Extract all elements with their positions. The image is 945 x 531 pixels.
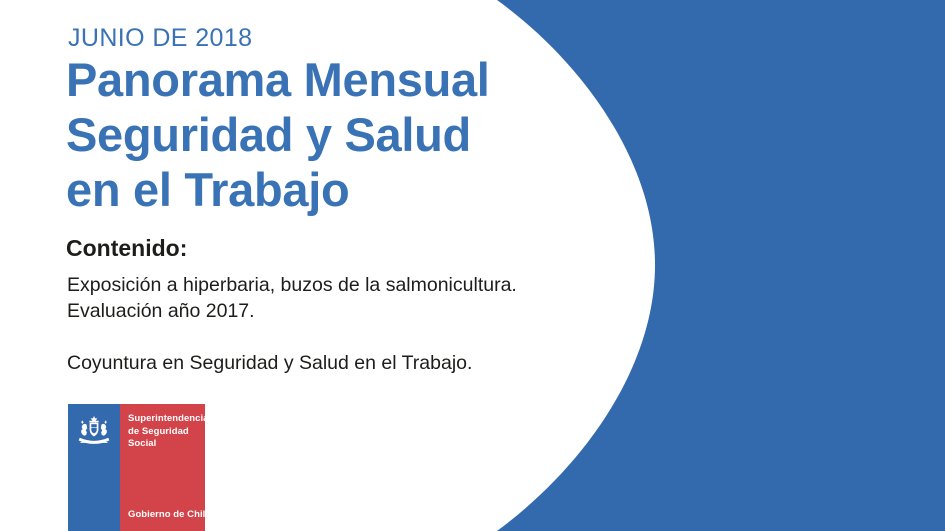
logo-red-panel: Superintendencia de Seguridad Social Gob… (120, 404, 205, 531)
issue-date: JUNIO DE 2018 (68, 24, 252, 53)
contents-item-1-line-1: Exposición a hiperbaria, buzos de la sal… (67, 272, 567, 298)
contents-item-1-line-2: Evaluación año 2017. (67, 298, 567, 324)
page-title: Panorama Mensual Seguridad y Salud en el… (66, 52, 536, 217)
agency-name-line-1: Superintendencia (128, 413, 209, 426)
page-title-line-3: en el Trabajo (66, 162, 536, 217)
contents-heading: Contenido: (66, 235, 187, 262)
agency-name-line-2: de Seguridad (128, 426, 209, 439)
logo-blue-panel (68, 404, 120, 531)
agency-name-line-3: Social (128, 438, 209, 451)
government-label: Gobierno de Chile (128, 509, 211, 520)
suseso-gobierno-de-chile-logo: Superintendencia de Seguridad Social Gob… (68, 404, 205, 531)
chile-coat-of-arms-icon (73, 415, 115, 449)
agency-name: Superintendencia de Seguridad Social (128, 413, 209, 451)
paragraph-spacer (67, 324, 567, 350)
document-cover-page: JUNIO DE 2018 Panorama Mensual Seguridad… (0, 0, 945, 531)
page-title-line-1: Panorama Mensual (66, 52, 536, 107)
contents-item-2-line-1: Coyuntura en Seguridad y Salud en el Tra… (67, 350, 567, 376)
contents-body: Exposición a hiperbaria, buzos de la sal… (67, 272, 567, 376)
page-title-line-2: Seguridad y Salud (66, 107, 536, 162)
